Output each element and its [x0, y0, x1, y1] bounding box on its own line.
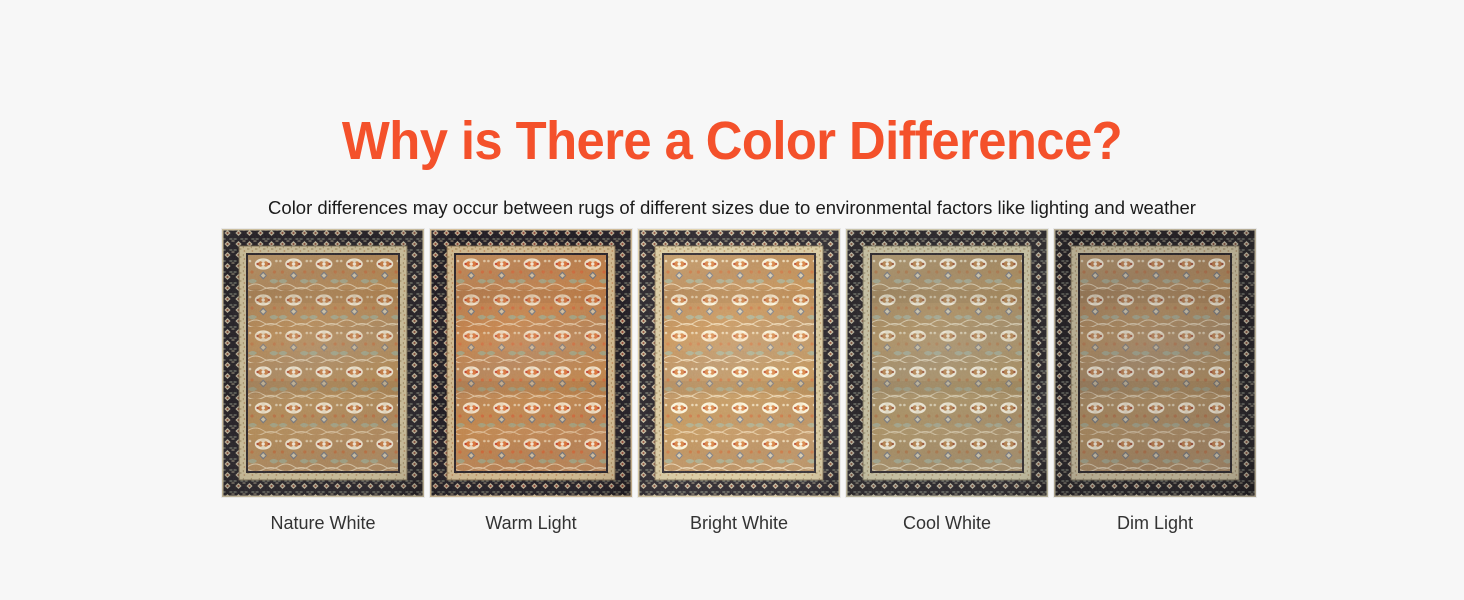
rug-image-warm-light[interactable] — [430, 229, 632, 497]
rug-swatch-nature-white[interactable]: Nature White — [222, 229, 424, 536]
rug-swatch-dim-light[interactable]: Dim Light — [1054, 229, 1256, 536]
rug-swatch-bright-white[interactable]: Bright White — [638, 229, 840, 536]
rug-swatch-label: Cool White — [903, 510, 991, 536]
rug-swatch-cool-white[interactable]: Cool White — [846, 229, 1048, 536]
rug-swatch-label: Nature White — [270, 510, 375, 536]
rug-swatch-label: Warm Light — [485, 510, 576, 536]
page-title: Why is There a Color Difference? — [44, 110, 1420, 172]
rug-image-bright-white[interactable] — [638, 229, 840, 497]
rug-image-dim-light[interactable] — [1054, 229, 1256, 497]
rug-swatch-warm-light[interactable]: Warm Light — [430, 229, 632, 536]
rug-swatch-label: Bright White — [690, 510, 788, 536]
color-difference-banner: Why is There a Color Difference? Color d… — [0, 0, 1464, 600]
page-subtitle: Color differences may occur between rugs… — [0, 195, 1464, 221]
rug-image-nature-white[interactable] — [222, 229, 424, 497]
rug-swatch-label: Dim Light — [1117, 510, 1193, 536]
rug-image-cool-white[interactable] — [846, 229, 1048, 497]
rug-swatch-strip: Nature White Warm Light Bright White — [222, 229, 1242, 536]
